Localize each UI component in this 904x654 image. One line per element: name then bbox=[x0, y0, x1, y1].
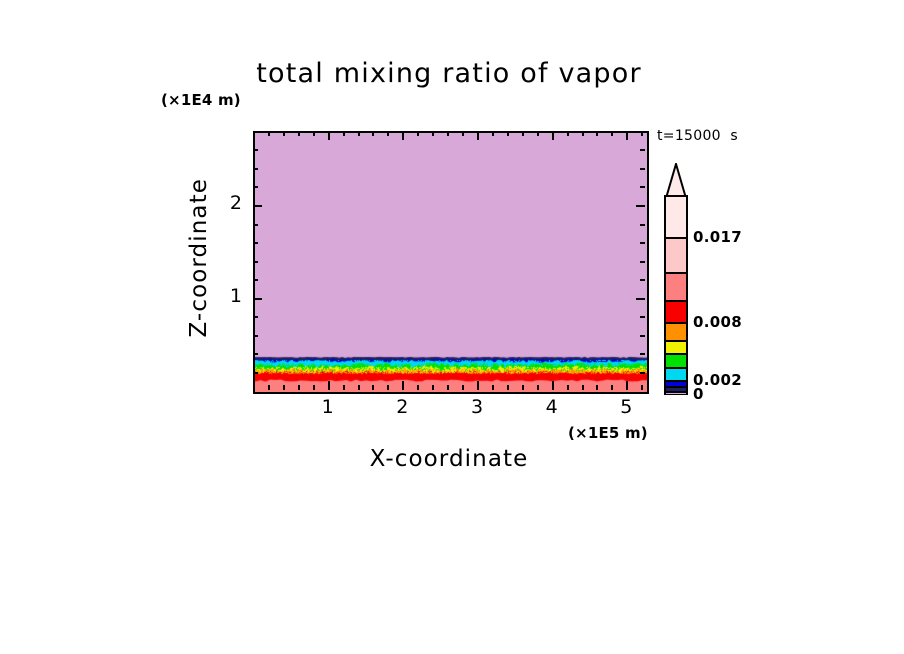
colorbar-svg bbox=[664, 163, 688, 395]
axis-tick bbox=[567, 131, 569, 136]
figure-root: total mixing ratio of vapor (×1E4 m) t=1… bbox=[0, 0, 904, 654]
colorbar-tick-line bbox=[666, 367, 686, 369]
axis-tick bbox=[640, 353, 645, 355]
colorbar-segment bbox=[666, 196, 686, 238]
axis-tick bbox=[298, 385, 300, 390]
axis-tick bbox=[253, 279, 258, 281]
axis-tick bbox=[641, 131, 643, 136]
axis-tick bbox=[417, 131, 419, 136]
colorbar-tick-line bbox=[666, 380, 686, 382]
axis-tick bbox=[626, 381, 628, 390]
axis-tick bbox=[640, 372, 645, 374]
axis-tick bbox=[640, 168, 645, 170]
axis-tick bbox=[253, 261, 258, 263]
axis-tick bbox=[358, 131, 360, 136]
axis-tick bbox=[402, 131, 404, 140]
axis-tick bbox=[253, 298, 262, 300]
colorbar-tick-line bbox=[666, 353, 686, 355]
axis-tick bbox=[253, 186, 258, 188]
plot-area bbox=[253, 131, 649, 394]
x-axis-tick-label: 2 bbox=[382, 396, 422, 418]
axis-tick bbox=[640, 316, 645, 318]
x-axis-tick-label: 1 bbox=[308, 396, 348, 418]
colorbar-segment bbox=[666, 341, 686, 354]
axis-tick bbox=[640, 149, 645, 151]
axis-tick bbox=[343, 131, 345, 136]
axis-tick bbox=[640, 279, 645, 281]
axis-tick bbox=[596, 131, 598, 136]
y-axis-unit-label: (×1E4 m) bbox=[161, 91, 241, 109]
axis-tick bbox=[640, 224, 645, 226]
axis-tick bbox=[253, 372, 258, 374]
x-axis-tick-label: 4 bbox=[532, 396, 572, 418]
page-title: total mixing ratio of vapor bbox=[0, 58, 904, 89]
x-axis-unit-label: (×1E5 m) bbox=[568, 424, 648, 442]
axis-tick bbox=[636, 205, 645, 207]
axis-tick bbox=[387, 385, 389, 390]
x-axis-tick-label: 5 bbox=[606, 396, 646, 418]
axis-tick bbox=[640, 186, 645, 188]
axis-tick bbox=[253, 224, 258, 226]
axis-tick bbox=[328, 381, 330, 390]
axis-tick bbox=[253, 149, 258, 151]
colorbar-tick-line bbox=[666, 272, 686, 274]
axis-tick bbox=[611, 131, 613, 136]
axis-tick bbox=[640, 261, 645, 263]
colorbar-segment bbox=[666, 354, 686, 368]
axis-tick bbox=[283, 131, 285, 136]
axis-tick bbox=[253, 168, 258, 170]
x-axis-tick-label: 3 bbox=[457, 396, 497, 418]
axis-tick bbox=[447, 131, 449, 136]
axis-tick bbox=[447, 385, 449, 390]
axis-tick bbox=[537, 385, 539, 390]
colorbar-segment bbox=[666, 368, 686, 381]
axis-tick bbox=[507, 385, 509, 390]
colorbar-segment bbox=[666, 238, 686, 273]
axis-tick bbox=[313, 385, 315, 390]
axis-tick bbox=[640, 242, 645, 244]
axis-tick bbox=[636, 298, 645, 300]
colorbar-tick-line bbox=[666, 386, 686, 388]
colorbar-label-0017: 0.017 bbox=[693, 228, 742, 246]
colorbar-tick-line bbox=[666, 300, 686, 302]
axis-tick bbox=[253, 242, 258, 244]
axis-tick bbox=[432, 385, 434, 390]
y-axis-tick-label: 1 bbox=[208, 285, 242, 307]
axis-tick bbox=[640, 335, 645, 337]
axis-tick bbox=[596, 385, 598, 390]
x-axis-title-text: X-coordinate bbox=[253, 446, 645, 472]
axis-tick bbox=[313, 131, 315, 136]
axis-tick bbox=[372, 131, 374, 136]
axis-tick bbox=[477, 381, 479, 390]
axis-tick bbox=[432, 131, 434, 136]
colorbar-tick-line bbox=[666, 322, 686, 324]
axis-tick bbox=[253, 353, 258, 355]
axis-tick bbox=[283, 385, 285, 390]
colorbar-overflow-arrow bbox=[667, 164, 686, 197]
colorbar bbox=[664, 163, 688, 395]
axis-tick bbox=[253, 316, 258, 318]
axis-tick bbox=[522, 385, 524, 390]
axis-tick bbox=[492, 131, 494, 136]
axis-tick bbox=[492, 385, 494, 390]
colorbar-label-0: 0 bbox=[693, 385, 704, 403]
colorbar-tick-line bbox=[666, 340, 686, 342]
axis-tick bbox=[611, 385, 613, 390]
axis-tick bbox=[567, 385, 569, 390]
axis-tick bbox=[268, 131, 270, 136]
axis-tick bbox=[507, 131, 509, 136]
axis-tick bbox=[402, 381, 404, 390]
axis-tick bbox=[253, 335, 258, 337]
axis-tick bbox=[582, 385, 584, 390]
y-axis-title: Z-coordinate bbox=[0, 0, 1, 1]
axis-tick bbox=[626, 131, 628, 140]
plot-title-text: total mixing ratio of vapor bbox=[256, 58, 642, 89]
axis-tick bbox=[552, 381, 554, 390]
axis-tick bbox=[417, 385, 419, 390]
colorbar-segment bbox=[666, 301, 686, 323]
axis-tick bbox=[552, 131, 554, 140]
colorbar-tick-line bbox=[666, 391, 686, 393]
axis-tick bbox=[582, 131, 584, 136]
axis-tick bbox=[462, 131, 464, 136]
axis-tick bbox=[298, 131, 300, 136]
axis-tick bbox=[328, 131, 330, 140]
colorbar-segment bbox=[666, 273, 686, 301]
colorbar-label-0008: 0.008 bbox=[693, 313, 742, 331]
axis-tick bbox=[522, 131, 524, 136]
axis-tick bbox=[358, 385, 360, 390]
axis-tick bbox=[268, 385, 270, 390]
axis-tick bbox=[641, 385, 643, 390]
colorbar-tick-line bbox=[666, 237, 686, 239]
axis-tick bbox=[343, 385, 345, 390]
axis-tick bbox=[387, 131, 389, 136]
axis-tick bbox=[477, 131, 479, 140]
colorbar-segment bbox=[666, 323, 686, 341]
axis-tick bbox=[537, 131, 539, 136]
time-annotation: t=15000 s bbox=[657, 128, 738, 144]
axis-tick bbox=[372, 385, 374, 390]
axis-tick bbox=[253, 205, 262, 207]
axis-tick bbox=[462, 385, 464, 390]
contour-field bbox=[255, 133, 647, 392]
y-axis-tick-label: 2 bbox=[208, 192, 242, 214]
